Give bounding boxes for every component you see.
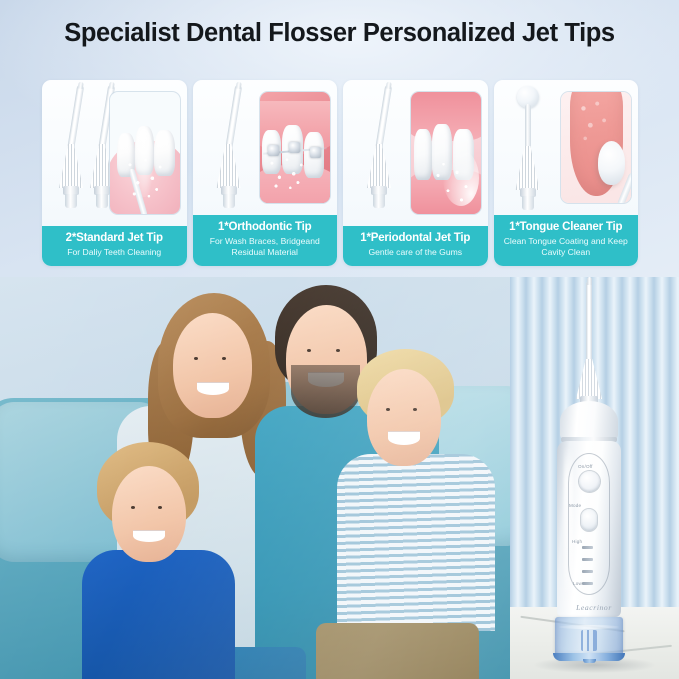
jet-tip-card-orthodontic[interactable]: 1*Orthodontic Tip For Wash Braces, Bridg… (193, 80, 338, 266)
pressure-low-label: Low (573, 581, 582, 586)
device-product-photo: On/Off Mode High Low Leacrinor (510, 277, 679, 679)
jet-tip-card-periodontal[interactable]: 1*Periodontal Jet Tip Gentle care of the… (343, 80, 488, 266)
mode-button[interactable] (581, 509, 597, 531)
title-bar: Specialist Dental Flosser Personalized J… (0, 0, 679, 66)
pressure-indicator-bar (582, 570, 593, 573)
brand-logo: Leacrinor (538, 603, 650, 612)
card-caption: 1*Periodontal Jet Tip Gentle care of the… (343, 226, 488, 266)
card-caption: 2*Standard Jet Tip For Daliy Teeth Clean… (42, 226, 187, 266)
power-button[interactable] (579, 471, 600, 492)
device-jet-tip-flute (576, 359, 602, 399)
jet-tip-card-strip: 2*Standard Jet Tip For Daliy Teeth Clean… (42, 80, 638, 266)
card-subtitle: For Daliy Teeth Cleaning (47, 247, 182, 258)
pressure-indicator-bar (582, 546, 593, 549)
page-title: Specialist Dental Flosser Personalized J… (64, 19, 614, 48)
water-flosser-device: On/Off Mode High Low Leacrinor (538, 281, 650, 651)
device-jet-tip-nozzle (586, 281, 592, 367)
card-illustration-area (193, 80, 338, 215)
product-infographic-page: Specialist Dental Flosser Personalized J… (0, 0, 679, 679)
card-title: 1*Orthodontic Tip (198, 221, 333, 234)
card-caption: 1*Tongue Cleaner Tip Clean Tongue Coatin… (494, 215, 639, 266)
card-illustration-area (343, 80, 488, 226)
photo-lighting-overlay (0, 277, 510, 679)
device-head-shoulder (560, 401, 618, 441)
orthodontic-tip-icon (209, 84, 255, 212)
card-illustration-area (494, 80, 639, 215)
tongue-scraper-illustration (561, 92, 631, 203)
tongue-cleaner-tip-icon (508, 84, 554, 212)
family-lifestyle-photo (0, 277, 510, 679)
mode-button-label: Mode (569, 503, 581, 508)
gums-water-spray-illustration (411, 92, 481, 214)
teeth-gum-water-spray-illustration (110, 92, 180, 214)
card-title: 1*Tongue Cleaner Tip (499, 221, 634, 234)
card-subtitle: Clean Tongue Coating and Keep Cavity Cle… (499, 236, 634, 258)
power-button-label: On/Off (578, 464, 593, 469)
water-tank-latch (583, 659, 596, 663)
periodontal-jet-tip-icon (359, 84, 405, 212)
braces-teeth-illustration (260, 92, 330, 203)
card-subtitle: Gentle care of the Gums (348, 247, 483, 258)
card-subtitle: For Wash Braces, Bridgeand Residual Mate… (198, 236, 333, 258)
card-title: 2*Standard Jet Tip (47, 232, 182, 245)
pressure-indicator-bar (582, 558, 593, 561)
jet-tip-card-standard[interactable]: 2*Standard Jet Tip For Daliy Teeth Clean… (42, 80, 187, 266)
pressure-indicator-bar (582, 582, 593, 585)
pressure-high-label: High (572, 539, 582, 544)
card-title: 1*Periodontal Jet Tip (348, 232, 483, 245)
card-caption: 1*Orthodontic Tip For Wash Braces, Bridg… (193, 215, 338, 266)
jet-tip-card-tongue-cleaner[interactable]: 1*Tongue Cleaner Tip Clean Tongue Coatin… (494, 80, 639, 266)
card-illustration-area (42, 80, 187, 226)
